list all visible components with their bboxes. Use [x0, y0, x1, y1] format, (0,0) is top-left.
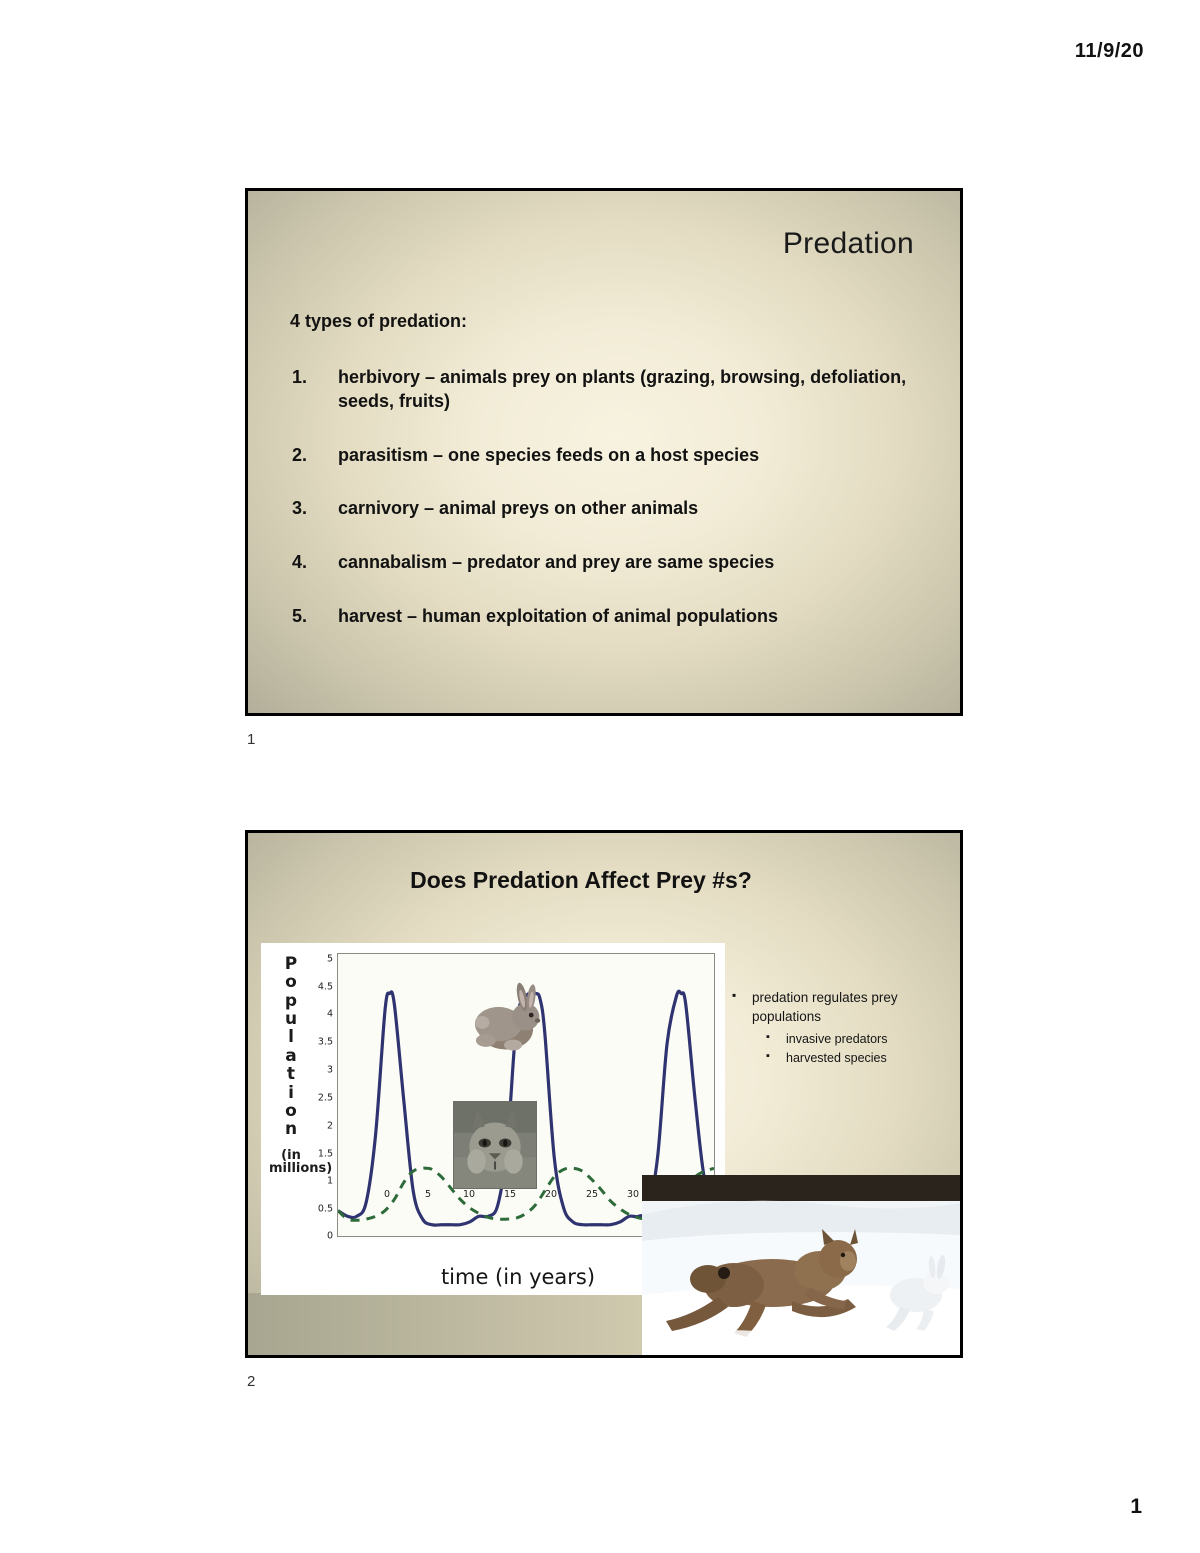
ylabel-char: o — [269, 973, 313, 991]
slide-1-title: Predation — [783, 227, 914, 261]
bullet-list: predation regulates prey populations inv… — [728, 988, 950, 1068]
lynx-chasing-hare-photo — [642, 1175, 960, 1355]
list-item-text: cannabalism – predator and prey are same… — [338, 552, 774, 572]
y-tick: 0 — [327, 1230, 333, 1241]
lynx-chase-illustration — [642, 1175, 960, 1355]
ylabel-char: a — [269, 1047, 313, 1065]
chart-y-axis-units: (in millions) — [269, 1149, 313, 1176]
ylabel-char: u — [269, 1010, 313, 1028]
list-item-text: herbivory – animals prey on plants (graz… — [338, 367, 906, 411]
slide-1[interactable]: Predation 4 types of predation: 1. herbi… — [245, 188, 963, 716]
y-tick: 0.5 — [318, 1204, 333, 1215]
ylabel-char: i — [269, 1084, 313, 1102]
chart-y-axis-label: P o p u l a t i o n (in millions) — [269, 955, 313, 1176]
list-item-number: 3. — [292, 497, 307, 521]
bullet-primary: predation regulates prey populations — [728, 988, 950, 1026]
list-item: 3. carnivory – animal preys on other ani… — [290, 497, 924, 521]
ylabel-char: t — [269, 1065, 313, 1083]
list-item-number: 2. — [292, 444, 307, 468]
page-footer-number: 1 — [1130, 1495, 1142, 1519]
list-item-text: parasitism – one species feeds on a host… — [338, 445, 759, 465]
slide-2-number: 2 — [247, 1373, 255, 1390]
y-tick: 2 — [327, 1120, 333, 1131]
y-tick: 3.5 — [318, 1037, 333, 1048]
bullet-sub: invasive predators — [728, 1030, 950, 1049]
y-tick: 3 — [327, 1065, 333, 1076]
x-tick: 10 — [463, 1189, 475, 1200]
list-item-number: 1. — [292, 366, 307, 390]
ylabel-char: p — [269, 992, 313, 1010]
lynx-face-photo — [453, 1101, 537, 1189]
slide-1-number: 1 — [247, 731, 255, 748]
ylabel-char: l — [269, 1028, 313, 1046]
ylabel-char: n — [269, 1120, 313, 1138]
list-item: 2. parasitism – one species feeds on a h… — [290, 444, 924, 468]
bullet-sub: harvested species — [728, 1049, 950, 1068]
slide-1-body: 4 types of predation: 1. herbivory – ani… — [290, 311, 924, 659]
list-item: 4. cannabalism – predator and prey are s… — [290, 551, 924, 575]
slide-2[interactable]: Does Predation Affect Prey #s? predation… — [245, 830, 963, 1358]
predation-types-list: 1. herbivory – animals prey on plants (g… — [290, 366, 924, 629]
x-tick: 25 — [586, 1189, 598, 1200]
list-item-number: 4. — [292, 551, 307, 575]
rabbit-photo — [458, 977, 550, 1055]
x-tick: 20 — [545, 1189, 557, 1200]
y-tick: 5 — [327, 953, 333, 964]
x-tick: 30 — [627, 1189, 639, 1200]
slide-2-bullets: predation regulates prey populations inv… — [728, 988, 950, 1068]
list-item-text: carnivory – animal preys on other animal… — [338, 498, 698, 518]
lynx-face-illustration — [454, 1102, 536, 1188]
list-item: 1. herbivory – animals prey on plants (g… — [290, 366, 924, 414]
x-tick: 5 — [425, 1189, 431, 1200]
x-tick: 0 — [384, 1189, 390, 1200]
y-tick: 2.5 — [318, 1092, 333, 1103]
page-date: 11/9/20 — [1075, 40, 1144, 63]
rabbit-illustration — [458, 977, 550, 1055]
y-tick: 1 — [327, 1176, 333, 1187]
slide-1-lead-text: 4 types of predation: — [290, 311, 924, 332]
list-item-number: 5. — [292, 605, 307, 629]
slide-2-title: Does Predation Affect Prey #s? — [248, 867, 914, 894]
x-tick: 15 — [504, 1189, 516, 1200]
list-item-text: harvest – human exploitation of animal p… — [338, 606, 778, 626]
ylabel-char: P — [269, 955, 313, 973]
chart-y-ticks: 5 4.5 4 3.5 3 2.5 2 1.5 1 0.5 0 — [311, 953, 335, 1237]
list-item: 5. harvest – human exploitation of anima… — [290, 605, 924, 629]
chart-y-axis-label-letters: P o p u l a t i o n — [269, 955, 313, 1139]
y-tick: 4.5 — [318, 981, 333, 992]
y-tick: 1.5 — [318, 1148, 333, 1159]
y-tick: 4 — [327, 1009, 333, 1020]
ylabel-char: o — [269, 1102, 313, 1120]
